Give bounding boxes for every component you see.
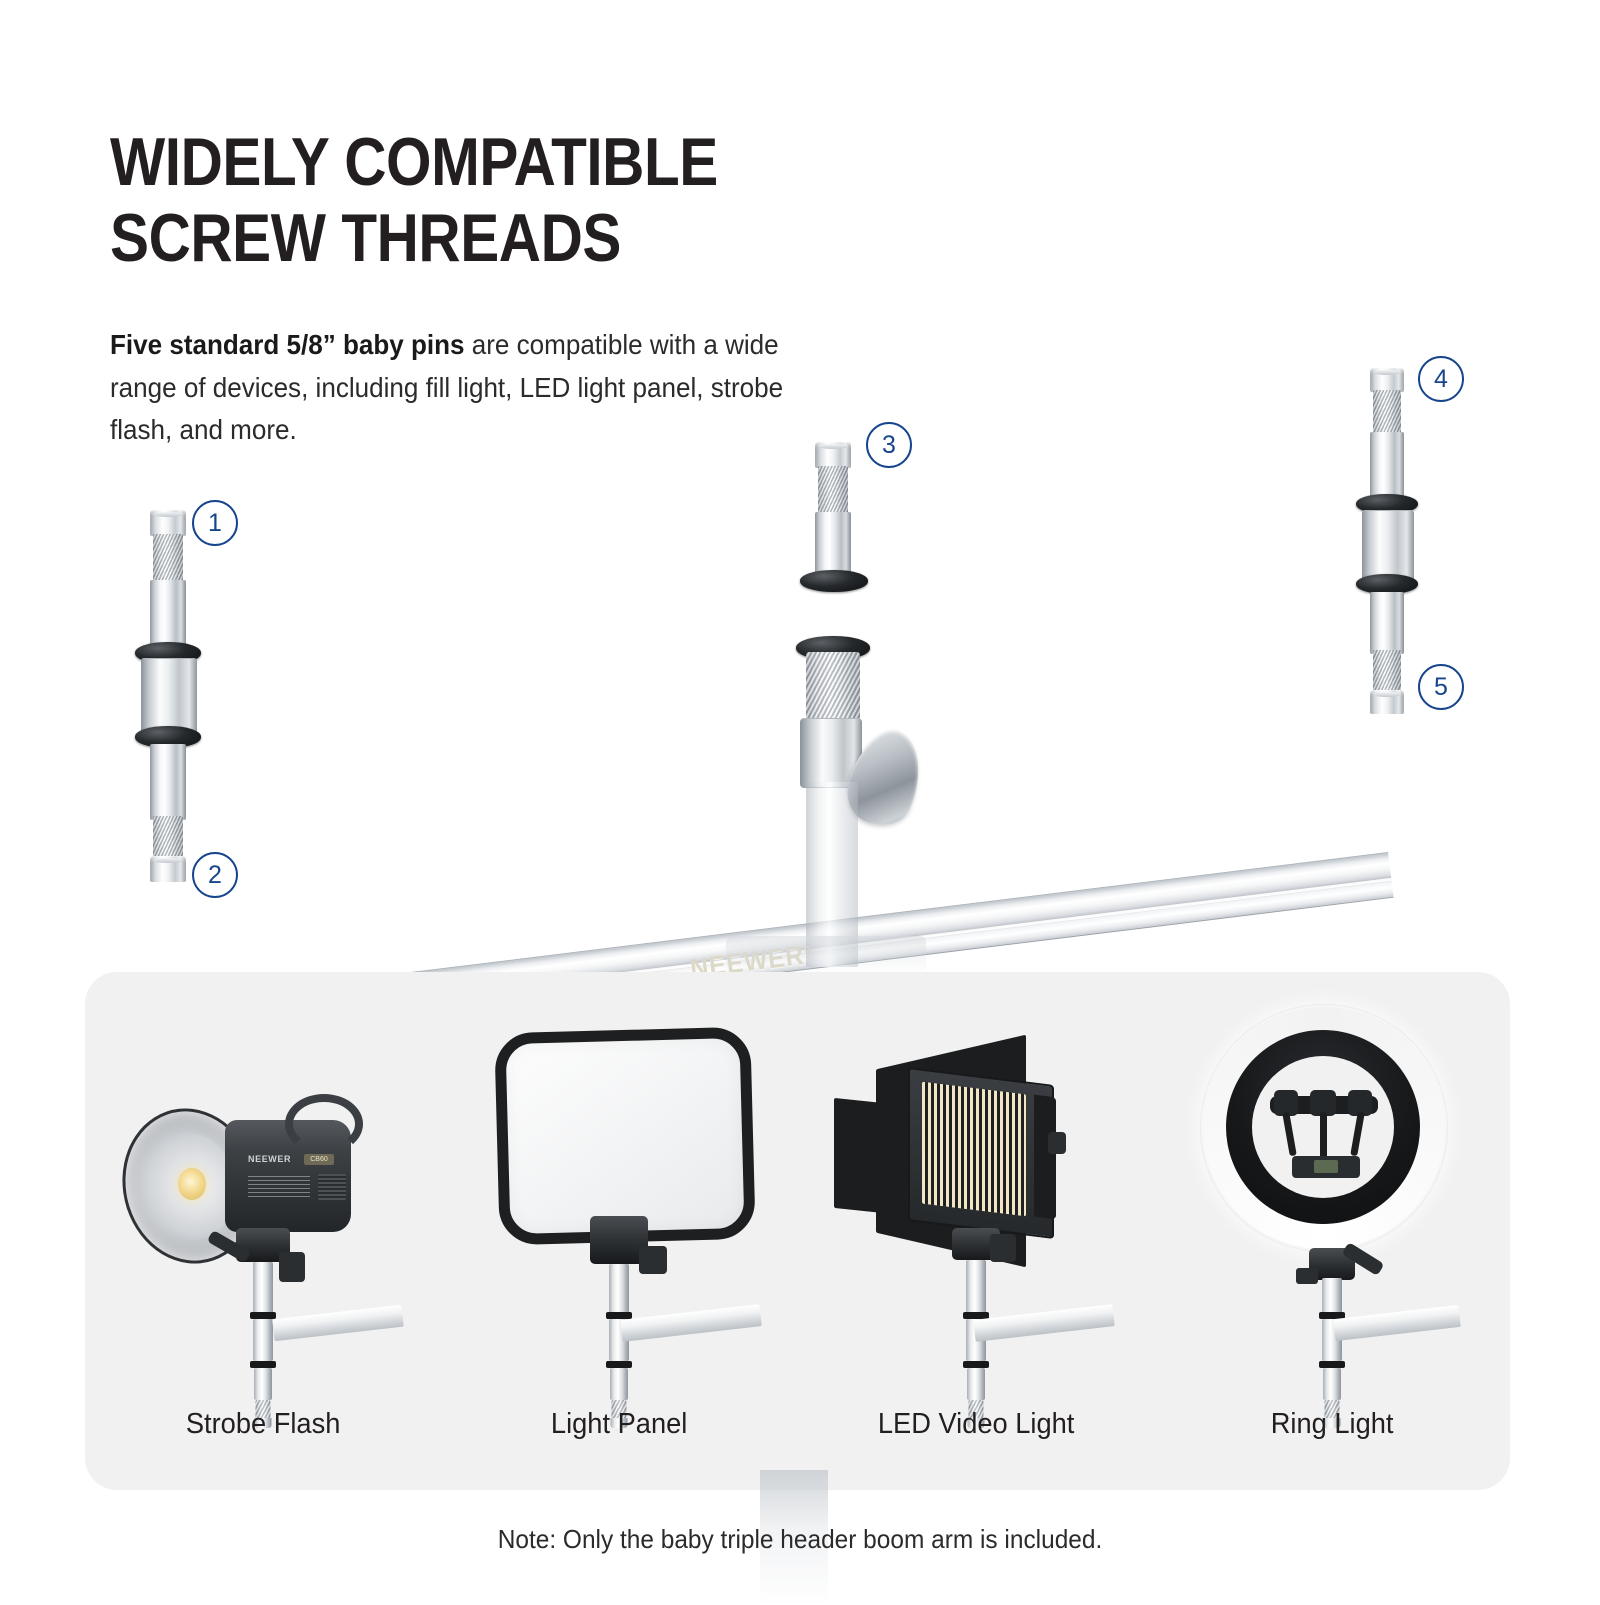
strobe-brand-text: NEEWER xyxy=(248,1154,291,1164)
light-panel-icon xyxy=(441,990,797,1390)
gallery-label-ring-light: Ring Light xyxy=(1164,1408,1499,1441)
callout-badge-5: 5 xyxy=(1418,664,1464,710)
boom-arm-illustration: NEEWER® xyxy=(0,330,1600,1010)
gallery-item-strobe-flash: NEEWER CB60 xyxy=(85,972,441,1490)
gallery-label-strobe-flash: Strobe Flash xyxy=(96,1408,431,1441)
callout-badge-2: 2 xyxy=(192,852,238,898)
strobe-model-badge: CB60 xyxy=(304,1154,334,1165)
gallery-item-ring-light: Ring Light xyxy=(1154,972,1510,1490)
callout-number-3: 3 xyxy=(882,433,896,458)
gallery-item-light-panel: Light Panel xyxy=(441,972,797,1490)
gallery-item-led-video-light: LED Video Light xyxy=(798,972,1154,1490)
callout-number-4: 4 xyxy=(1434,367,1448,392)
compatible-devices-card: NEEWER CB60 xyxy=(85,972,1510,1490)
callout-number-2: 2 xyxy=(208,863,222,888)
headline-line-2: SCREW THREADS xyxy=(110,200,884,277)
ring-light-icon xyxy=(1154,990,1510,1390)
led-video-light-icon xyxy=(798,990,1154,1390)
infographic-page: WIDELY COMPATIBLE SCREW THREADS Five sta… xyxy=(0,0,1600,1600)
headline-line-1: WIDELY COMPATIBLE xyxy=(110,124,718,200)
footer-note: Note: Only the baby triple header boom a… xyxy=(48,1524,1552,1555)
gallery-label-light-panel: Light Panel xyxy=(452,1408,787,1441)
strobe-flash-icon: NEEWER CB60 xyxy=(85,990,441,1390)
page-title: WIDELY COMPATIBLE SCREW THREADS xyxy=(110,124,884,278)
gallery-label-led-video-light: LED Video Light xyxy=(808,1408,1143,1441)
callout-badge-3: 3 xyxy=(866,422,912,468)
callout-badge-4: 4 xyxy=(1418,356,1464,402)
callout-number-5: 5 xyxy=(1434,675,1448,700)
callout-badge-1: 1 xyxy=(192,500,238,546)
callout-number-1: 1 xyxy=(208,511,222,536)
